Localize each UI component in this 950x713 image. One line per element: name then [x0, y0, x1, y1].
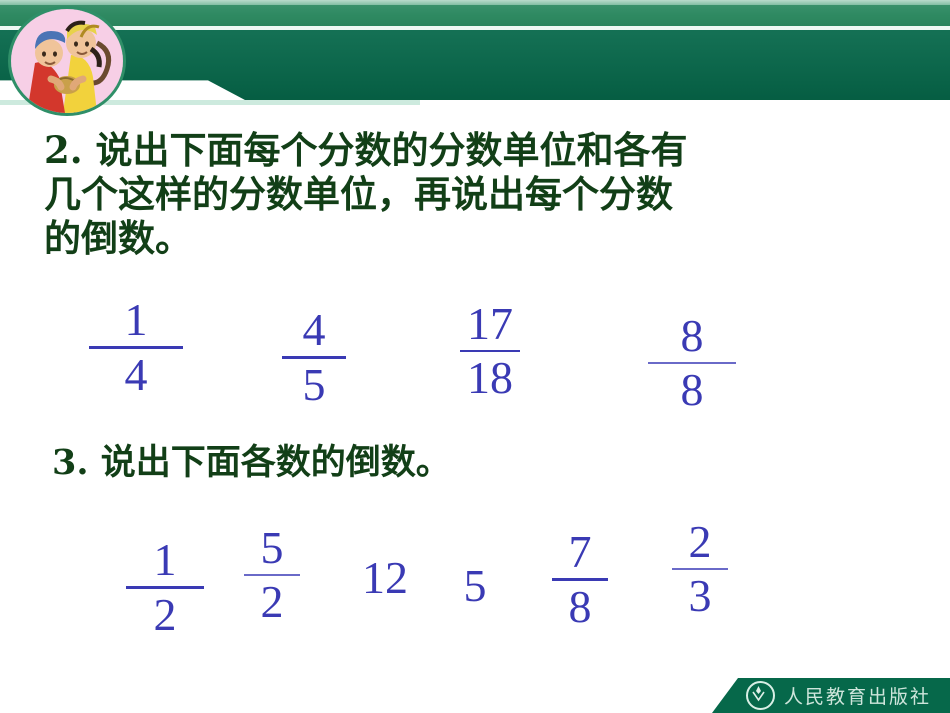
header-separator-line: [0, 26, 950, 30]
fraction-item: 5 2: [228, 524, 316, 626]
fraction-denominator: 4: [89, 351, 183, 399]
question-2-text: 2. 说出下面每个分数的分数单位和各有 几个这样的分数单位，再说出每个分数 的倒…: [44, 128, 914, 260]
whole-number-item: 12: [348, 554, 422, 602]
fraction-item: 2 3: [656, 518, 744, 620]
fraction-denominator: 2: [126, 591, 204, 639]
fraction-item: 4 5: [266, 306, 362, 409]
question-3-text: 3. 说出下面各数的倒数。: [52, 442, 752, 484]
fraction-item: 1 2: [120, 536, 210, 639]
fraction-numerator: 1: [126, 536, 204, 584]
publisher-name: 人民教育出版社: [784, 682, 931, 709]
fraction-numerator: 2: [672, 518, 728, 566]
fraction-item: 7 8: [536, 528, 624, 631]
header-banner: [0, 0, 950, 118]
fraction-numerator: 17: [460, 300, 520, 348]
whole-number-item: 5: [450, 562, 500, 610]
pep-emblem-icon: [746, 681, 775, 710]
footer-publisher-bar: 人民教育出版社: [712, 678, 950, 713]
fraction-denominator: 8: [648, 366, 736, 414]
fraction-denominator: 2: [244, 578, 300, 626]
fraction-item: 8 8: [640, 312, 744, 414]
header-main-band: [0, 30, 950, 100]
fraction-numerator: 7: [552, 528, 608, 576]
fraction-item: 17 18: [437, 300, 543, 402]
fraction-denominator: 3: [672, 572, 728, 620]
header-top-highlight: [0, 0, 950, 5]
fraction-numerator: 1: [89, 296, 183, 344]
fraction-denominator: 8: [552, 583, 608, 631]
fraction-denominator: 18: [460, 354, 520, 402]
fraction-numerator: 5: [244, 524, 300, 572]
fraction-numerator: 8: [648, 312, 736, 360]
mascot-icon: [8, 6, 126, 116]
fraction-item: 1 4: [84, 296, 188, 399]
fraction-denominator: 5: [282, 361, 346, 409]
fraction-numerator: 4: [282, 306, 346, 354]
